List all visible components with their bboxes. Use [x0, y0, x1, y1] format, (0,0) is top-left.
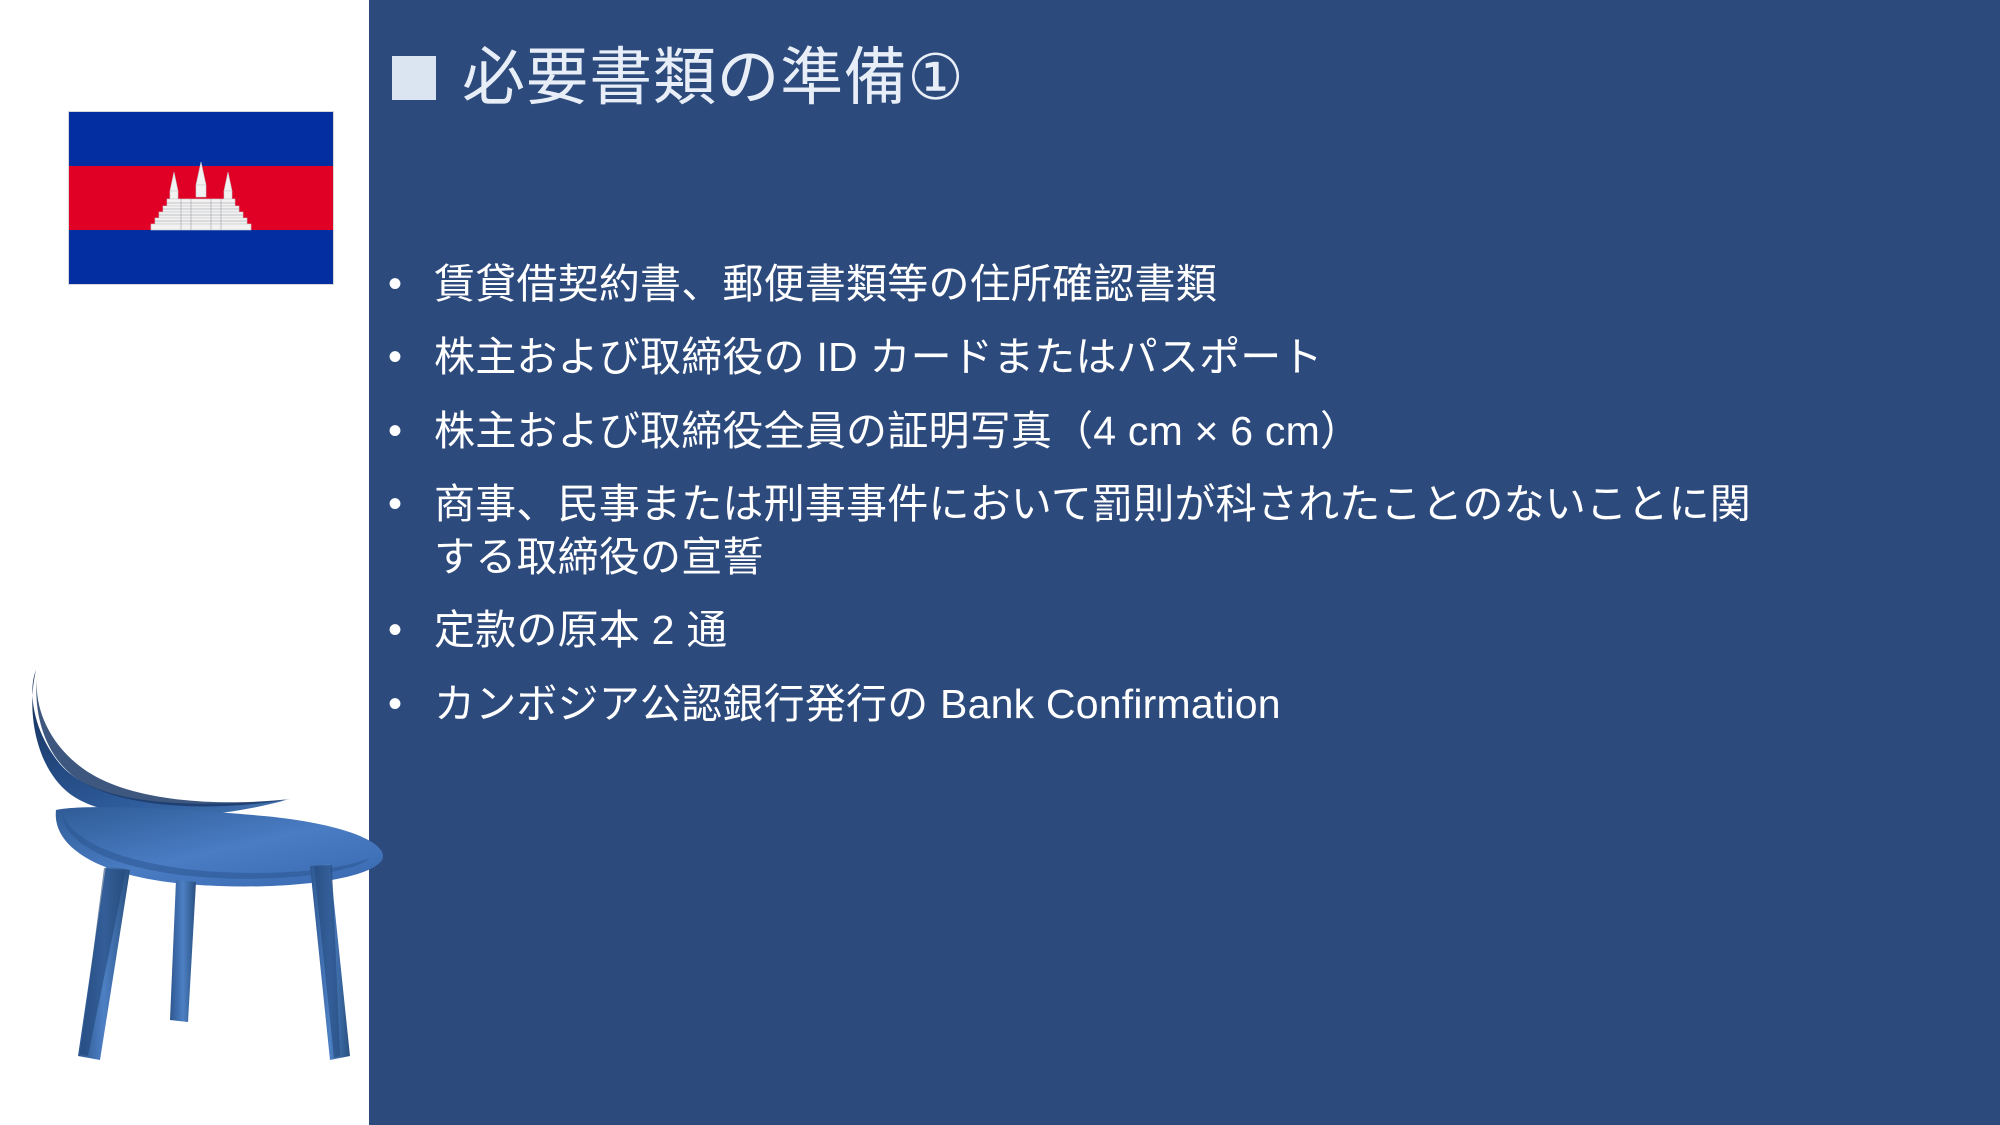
list-item: • カンボジア公認銀行発行の Bank Confirmation	[382, 678, 1982, 730]
list-item-line: 賃貸借契約書、郵便書類等の住所確認書類	[434, 261, 1217, 307]
bullet-dot-icon: •	[382, 331, 434, 383]
flag-band-bottom	[69, 230, 333, 284]
page-title: 必要書類の準備①	[392, 45, 965, 111]
requirements-bullet-list: • 賃貸借契約書、郵便書類等の住所確認書類 • 株主および取締役の ID カード…	[382, 258, 1982, 751]
bullet-dot-icon: •	[382, 604, 434, 656]
list-item-line: カンボジア公認銀行発行の Bank Confirmation	[434, 681, 1281, 727]
list-item-line: 株主および取締役の ID カードまたはパスポート	[434, 334, 1323, 380]
list-item-line: 定款の原本 2 通	[434, 607, 727, 653]
left-sidebar-panel	[0, 0, 369, 1125]
bullet-dot-icon: •	[382, 678, 434, 730]
cambodia-flag-icon	[69, 112, 333, 284]
list-item-text: カンボジア公認銀行発行の Bank Confirmation	[434, 678, 1982, 730]
list-item: • 株主および取締役全員の証明写真（4 cm × 6 cm）	[382, 405, 1982, 457]
angkor-wat-temple-icon	[141, 159, 261, 237]
list-item-text: 賃貸借契約書、郵便書類等の住所確認書類	[434, 258, 1982, 310]
title-square-marker-icon	[392, 56, 436, 100]
bullet-dot-icon: •	[382, 478, 434, 530]
list-item-line: 商事、民事または刑事事件において罰則が科されたことのないことに関	[434, 481, 1751, 527]
list-item-text: 定款の原本 2 通	[434, 604, 1982, 656]
list-item-line: する取締役の宣誓	[434, 531, 1982, 583]
list-item: • 定款の原本 2 通	[382, 604, 1982, 656]
list-item: • 商事、民事または刑事事件において罰則が科されたことのないことに関する取締役の…	[382, 478, 1982, 583]
list-item-text: 株主および取締役の ID カードまたはパスポート	[434, 331, 1982, 383]
list-item-text: 株主および取締役全員の証明写真（4 cm × 6 cm）	[434, 405, 1982, 457]
bullet-dot-icon: •	[382, 258, 434, 310]
title-label: 必要書類の準備①	[462, 45, 965, 111]
list-item-line: 株主および取締役全員の証明写真（4 cm × 6 cm）	[434, 408, 1361, 454]
slide: 必要書類の準備① • 賃貸借契約書、郵便書類等の住所確認書類 • 株主および取締…	[0, 0, 2000, 1125]
bullet-dot-icon: •	[382, 405, 434, 457]
list-item: • 賃貸借契約書、郵便書類等の住所確認書類	[382, 258, 1982, 310]
list-item-text: 商事、民事または刑事事件において罰則が科されたことのないことに関する取締役の宣誓	[434, 478, 1982, 583]
list-item: • 株主および取締役の ID カードまたはパスポート	[382, 331, 1982, 383]
